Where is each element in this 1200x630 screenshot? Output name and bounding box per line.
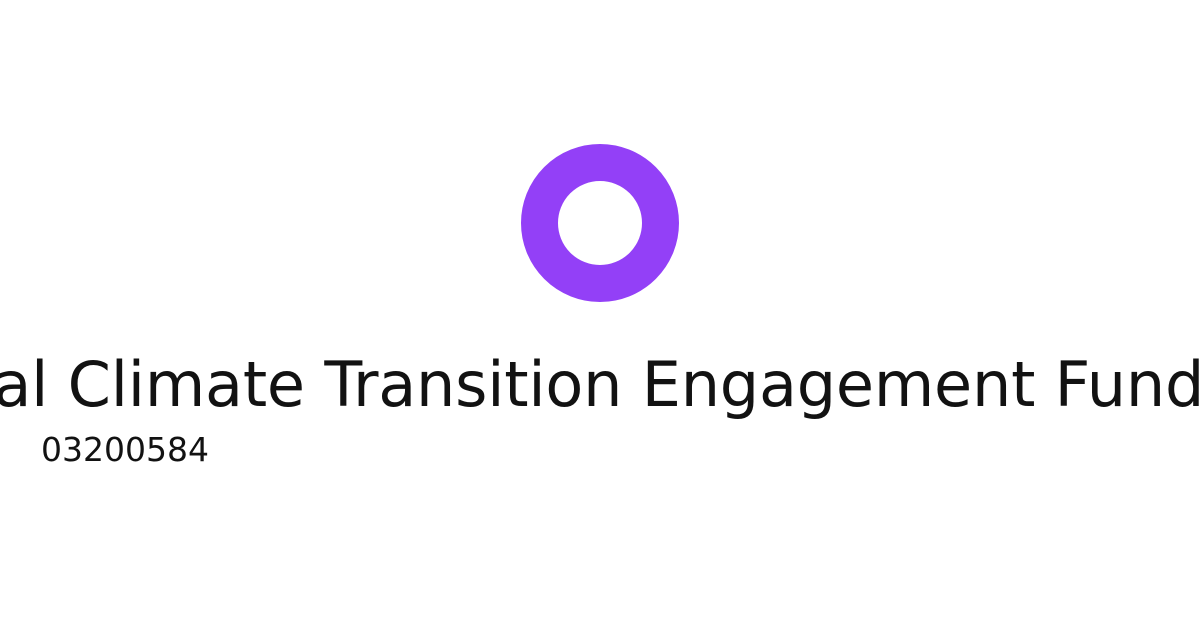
ring-logo-icon: [521, 144, 679, 302]
card-text-block: bal Climate Transition Engagement Fund -…: [0, 352, 1200, 469]
fund-identifier: 03200584: [41, 431, 209, 469]
og-preview-card: bal Climate Transition Engagement Fund -…: [0, 0, 1200, 630]
logo-container: [0, 144, 1200, 302]
fund-title: bal Climate Transition Engagement Fund -: [0, 352, 1200, 417]
